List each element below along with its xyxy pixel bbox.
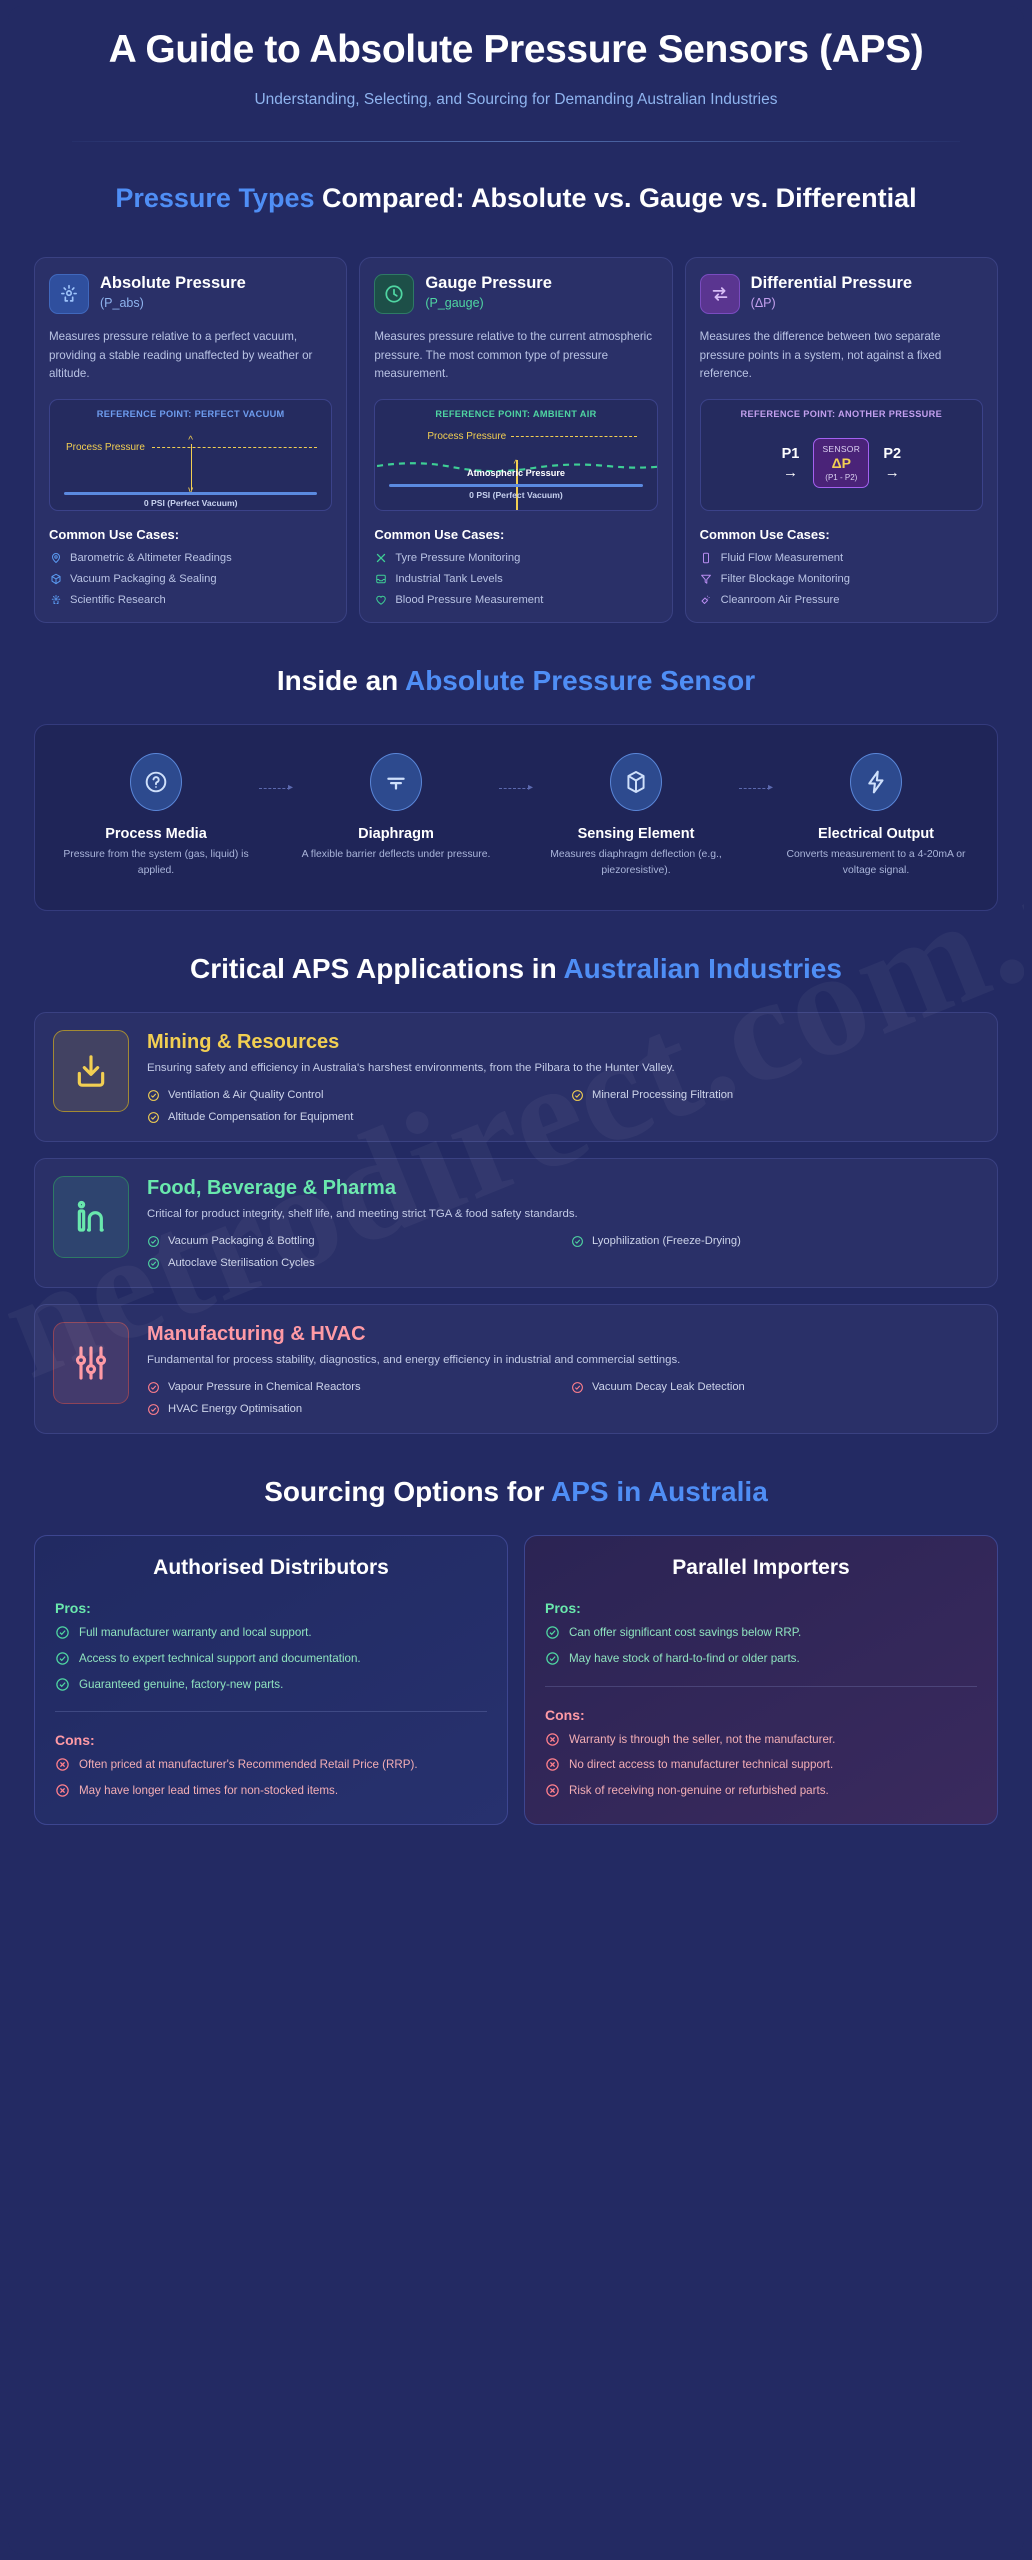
pressure-card-differential: Differential Pressure (ΔP) Measures the …: [685, 257, 998, 623]
list-item-label: May have stock of hard-to-find or older …: [569, 1651, 800, 1668]
sourcing-card-parallel-importers: Parallel Importers Pros: Can offer signi…: [524, 1535, 998, 1825]
list-item: Mineral Processing Filtration: [571, 1089, 979, 1102]
card-header: Absolute Pressure (P_abs): [49, 274, 332, 314]
list-item-label: Vacuum Decay Leak Detection: [592, 1381, 745, 1393]
step-description: Converts measurement to a 4-20mA or volt…: [773, 847, 979, 879]
cons-list: Often priced at manufacturer's Recommend…: [55, 1757, 487, 1800]
list-item: Fluid Flow Measurement: [700, 551, 983, 564]
diagram-baseline-label: 0 PSI (Perfect Vacuum): [50, 498, 331, 508]
chevron-down-icon: v: [188, 486, 193, 496]
list-item: HVAC Energy Optimisation: [147, 1403, 555, 1416]
diagram-sensor-row: P1 → SENSOR ΔP (P1 - P2) P2 →: [701, 438, 982, 488]
step-description: Pressure from the system (gas, liquid) i…: [53, 847, 259, 879]
flow-connector: ▸: [259, 783, 293, 793]
list-item-label: Filter Blockage Monitoring: [721, 573, 850, 585]
card-titles: Gauge Pressure (P_gauge): [425, 274, 552, 309]
arrow-right-icon: →: [782, 465, 800, 480]
diaphragm-equals-icon: [370, 753, 422, 811]
diagram-baseline: [64, 492, 317, 494]
card-titles: Absolute Pressure (P_abs): [100, 274, 246, 309]
list-item: Often priced at manufacturer's Recommend…: [55, 1757, 487, 1774]
sensor-step-sensing-element: Sensing Element Measures diaphragm defle…: [533, 753, 739, 879]
heading-accent: APS in Australia: [551, 1476, 768, 1507]
funnel-icon: [700, 572, 713, 585]
check-circle-icon: [147, 1381, 160, 1394]
absolute-pressure-diagram: REFERENCE POINT: PERFECT VACUUM ^ v Proc…: [49, 399, 332, 511]
list-item-label: Warranty is through the seller, not the …: [569, 1732, 835, 1749]
list-item: Warranty is through the seller, not the …: [545, 1732, 977, 1749]
page-subtitle: Understanding, Selecting, and Sourcing f…: [68, 89, 964, 111]
list-item: Industrial Tank Levels: [374, 572, 657, 585]
list-item: Filter Blockage Monitoring: [700, 572, 983, 585]
use-cases-list: Tyre Pressure Monitoring Industrial Tank…: [374, 551, 657, 606]
infographic-page: netrodirect.com.au A Guide to Absolute P…: [0, 0, 1032, 2560]
diagram-process-dash: [511, 436, 636, 437]
sensor-symbol: ΔP: [817, 455, 865, 471]
connector-line: [739, 788, 770, 789]
connector-line: [499, 788, 530, 789]
tablet-icon: [700, 551, 713, 564]
connector-line: [259, 788, 290, 789]
heading-rest: Sourcing Options for: [264, 1476, 551, 1507]
list-item-label: Scientific Research: [70, 594, 166, 606]
list-item: Barometric & Altimeter Readings: [49, 551, 332, 564]
x-mark-icon: [374, 551, 387, 564]
sourcing-cards: Authorised Distributors Pros: Full manuf…: [8, 1535, 1024, 1825]
inbox-icon: [374, 572, 387, 585]
cube-icon: [610, 753, 662, 811]
question-circle-icon: [130, 753, 182, 811]
card-points: Ventilation & Air Quality Control Minera…: [147, 1089, 979, 1124]
application-card-mining: Mining & Resources Ensuring safety and e…: [34, 1012, 998, 1142]
card-title: Manufacturing & HVAC: [147, 1323, 979, 1345]
diagram-atmospheric-label: Atmospheric Pressure: [375, 468, 656, 478]
use-cases-list: Fluid Flow Measurement Filter Blockage M…: [700, 551, 983, 606]
list-item-label: Barometric & Altimeter Readings: [70, 552, 232, 564]
diagram-p2: P2 →: [883, 446, 901, 480]
list-item-label: Mineral Processing Filtration: [592, 1089, 733, 1101]
list-item-label: Autoclave Sterilisation Cycles: [168, 1257, 315, 1269]
check-circle-icon: [545, 1651, 560, 1666]
application-card-food: Food, Beverage & Pharma Critical for pro…: [34, 1158, 998, 1288]
list-item: Risk of receiving non-genuine or refurbi…: [545, 1783, 977, 1800]
sensor-step-process-media: Process Media Pressure from the system (…: [53, 753, 259, 879]
x-circle-icon: [55, 1757, 70, 1772]
list-item: May have longer lead times for non-stock…: [55, 1783, 487, 1800]
list-item: Guaranteed genuine, factory-new parts.: [55, 1677, 487, 1694]
pressure-type-cards: Absolute Pressure (P_abs) Measures press…: [8, 257, 1024, 623]
p1-label: P1: [782, 446, 800, 462]
pressure-types-heading: Pressure Types Compared: Absolute vs. Ga…: [8, 182, 1024, 216]
list-item-label: Industrial Tank Levels: [395, 573, 502, 585]
flow-connector: ▸: [739, 783, 773, 793]
list-item: Lyophilization (Freeze-Drying): [571, 1235, 979, 1248]
card-points: Vacuum Packaging & Bottling Lyophilizati…: [147, 1235, 979, 1270]
step-name: Electrical Output: [773, 826, 979, 842]
cons-label: Cons:: [545, 1707, 977, 1723]
linkedin-in-icon: [53, 1176, 129, 1258]
diagram-reference-label: REFERENCE POINT: PERFECT VACUUM: [50, 409, 331, 419]
pros-label: Pros:: [55, 1600, 487, 1616]
applications-heading: Critical APS Applications in Australian …: [8, 951, 1024, 986]
infographic-canvas: netrodirect.com.au A Guide to Absolute P…: [8, 6, 1024, 2554]
cons-label: Cons:: [55, 1732, 487, 1748]
application-card-manufacturing: Manufacturing & HVAC Fundamental for pro…: [34, 1304, 998, 1434]
map-pin-icon: [49, 551, 62, 564]
sensor-step-diaphragm: Diaphragm A flexible barrier deflects un…: [293, 753, 499, 863]
diagram-process-dash: [152, 447, 317, 448]
sliders-icon: [53, 1322, 129, 1404]
vacuum-burst-icon: [49, 274, 89, 314]
list-item-label: Often priced at manufacturer's Recommend…: [79, 1757, 418, 1774]
pressure-card-gauge: Gauge Pressure (P_gauge) Measures pressu…: [359, 257, 672, 623]
sensor-step-electrical-output: Electrical Output Converts measurement t…: [773, 753, 979, 879]
card-body: Mining & Resources Ensuring safety and e…: [147, 1030, 979, 1124]
diagram-sensor-box: SENSOR ΔP (P1 - P2): [813, 438, 869, 488]
flow-connector: ▸: [499, 783, 533, 793]
sourcing-heading: Sourcing Options for APS in Australia: [8, 1474, 1024, 1509]
exchange-arrows-icon: [700, 274, 740, 314]
arrow-right-icon: →: [883, 465, 901, 480]
step-description: Measures diaphragm deflection (e.g., pie…: [533, 847, 739, 879]
list-item-label: Guaranteed genuine, factory-new parts.: [79, 1677, 283, 1694]
heading-rest: Inside an: [277, 665, 405, 696]
card-description: Measures pressure relative to the curren…: [374, 328, 657, 383]
pros-label: Pros:: [545, 1600, 977, 1616]
use-cases-list: Barometric & Altimeter Readings Vacuum P…: [49, 551, 332, 606]
list-item-label: Fluid Flow Measurement: [721, 552, 843, 564]
card-title: Absolute Pressure: [100, 274, 246, 293]
card-title: Authorised Distributors: [55, 1556, 487, 1580]
list-item-label: No direct access to manufacturer technic…: [569, 1757, 833, 1774]
list-item-label: Vacuum Packaging & Sealing: [70, 573, 217, 585]
card-description: Measures the difference between two sepa…: [700, 328, 983, 383]
check-circle-icon: [147, 1235, 160, 1248]
check-circle-icon: [147, 1111, 160, 1124]
heading-rest: Compared: Absolute vs. Gauge vs. Differe…: [314, 183, 916, 213]
list-item: Vacuum Decay Leak Detection: [571, 1381, 979, 1394]
package-icon: [49, 572, 62, 585]
card-divider: [545, 1686, 977, 1687]
list-item-label: Access to expert technical support and d…: [79, 1651, 361, 1668]
page-title: A Guide to Absolute Pressure Sensors (AP…: [68, 28, 964, 72]
card-header: Gauge Pressure (P_gauge): [374, 274, 657, 314]
heading-rest: Critical APS Applications in: [190, 953, 563, 984]
card-symbol: (P_abs): [100, 296, 246, 310]
card-description: Ensuring safety and efficiency in Austra…: [147, 1060, 979, 1077]
list-item: Can offer significant cost savings below…: [545, 1625, 977, 1642]
check-circle-icon: [147, 1403, 160, 1416]
pressure-card-absolute: Absolute Pressure (P_abs) Measures press…: [34, 257, 347, 623]
check-circle-icon: [571, 1235, 584, 1248]
gauge-pressure-diagram: REFERENCE POINT: AMBIENT AIR Process Pre…: [374, 399, 657, 511]
clock-icon: [374, 274, 414, 314]
list-item-label: HVAC Energy Optimisation: [168, 1403, 302, 1415]
card-body: Food, Beverage & Pharma Critical for pro…: [147, 1176, 979, 1270]
card-description: Measures pressure relative to a perfect …: [49, 328, 332, 383]
heading-accent: Pressure Types: [115, 183, 314, 213]
x-circle-icon: [545, 1732, 560, 1747]
card-description: Critical for product integrity, shelf li…: [147, 1206, 979, 1223]
list-item-label: Full manufacturer warranty and local sup…: [79, 1625, 312, 1642]
list-item-label: Ventilation & Air Quality Control: [168, 1089, 323, 1101]
heading-accent: Australian Industries: [563, 953, 842, 984]
heart-icon: [374, 593, 387, 606]
diagram-process-label: Process Pressure: [66, 442, 145, 453]
check-circle-icon: [571, 1381, 584, 1394]
step-name: Diaphragm: [293, 826, 499, 842]
card-title: Gauge Pressure: [425, 274, 552, 293]
check-circle-icon: [55, 1651, 70, 1666]
list-item: Cleanroom Air Pressure: [700, 593, 983, 606]
check-circle-icon: [55, 1677, 70, 1692]
diagram-process-label: Process Pressure: [427, 431, 506, 442]
list-item-label: Altitude Compensation for Equipment: [168, 1111, 353, 1123]
list-item: Vacuum Packaging & Sealing: [49, 572, 332, 585]
card-title: Food, Beverage & Pharma: [147, 1177, 979, 1199]
step-name: Process Media: [53, 826, 259, 842]
list-item: Vapour Pressure in Chemical Reactors: [147, 1381, 555, 1394]
sensor-label: SENSOR: [817, 444, 865, 454]
card-title: Differential Pressure: [751, 274, 912, 293]
list-item-label: Vacuum Packaging & Bottling: [168, 1235, 315, 1247]
pros-list: Full manufacturer warranty and local sup…: [55, 1625, 487, 1693]
card-title: Mining & Resources: [147, 1031, 979, 1053]
card-points: Vapour Pressure in Chemical Reactors Vac…: [147, 1381, 979, 1416]
check-circle-icon: [55, 1625, 70, 1640]
card-divider: [55, 1711, 487, 1712]
list-item: May have stock of hard-to-find or older …: [545, 1651, 977, 1668]
list-item: Tyre Pressure Monitoring: [374, 551, 657, 564]
use-cases-title: Common Use Cases:: [700, 527, 983, 542]
diagram-arrow-line: [191, 444, 193, 490]
check-circle-icon: [571, 1089, 584, 1102]
check-circle-icon: [147, 1089, 160, 1102]
list-item: Altitude Compensation for Equipment: [147, 1111, 555, 1124]
spray-icon: [700, 593, 713, 606]
sensor-formula: (P1 - P2): [817, 473, 865, 482]
atom-icon: [49, 593, 62, 606]
list-item-label: May have longer lead times for non-stock…: [79, 1783, 338, 1800]
list-item-label: Lyophilization (Freeze-Drying): [592, 1235, 741, 1247]
download-tray-icon: [53, 1030, 129, 1112]
card-titles: Differential Pressure (ΔP): [751, 274, 912, 309]
x-circle-icon: [545, 1783, 560, 1798]
sourcing-card-authorised-distributors: Authorised Distributors Pros: Full manuf…: [34, 1535, 508, 1825]
differential-pressure-diagram: REFERENCE POINT: ANOTHER PRESSURE P1 → S…: [700, 399, 983, 511]
cons-list: Warranty is through the seller, not the …: [545, 1732, 977, 1800]
pros-list: Can offer significant cost savings below…: [545, 1625, 977, 1668]
card-body: Manufacturing & HVAC Fundamental for pro…: [147, 1322, 979, 1416]
card-header: Differential Pressure (ΔP): [700, 274, 983, 314]
card-symbol: (ΔP): [751, 296, 912, 310]
list-item: Scientific Research: [49, 593, 332, 606]
use-cases-title: Common Use Cases:: [374, 527, 657, 542]
list-item-label: Can offer significant cost savings below…: [569, 1625, 801, 1642]
diagram-reference-label: REFERENCE POINT: ANOTHER PRESSURE: [701, 409, 982, 419]
list-item: Vacuum Packaging & Bottling: [147, 1235, 555, 1248]
list-item: Autoclave Sterilisation Cycles: [147, 1257, 555, 1270]
check-circle-icon: [545, 1625, 560, 1640]
p2-label: P2: [883, 446, 901, 462]
list-item: Access to expert technical support and d…: [55, 1651, 487, 1668]
diagram-baseline-label: 0 PSI (Perfect Vacuum): [375, 490, 656, 500]
inside-sensor-section: Process Media Pressure from the system (…: [8, 724, 1024, 910]
card-description: Fundamental for process stability, diagn…: [147, 1352, 979, 1369]
list-item-label: Tyre Pressure Monitoring: [395, 552, 520, 564]
list-item: Ventilation & Air Quality Control: [147, 1089, 555, 1102]
step-description: A flexible barrier deflects under pressu…: [293, 847, 499, 863]
list-item-label: Blood Pressure Measurement: [395, 594, 543, 606]
list-item: Full manufacturer warranty and local sup…: [55, 1625, 487, 1642]
x-circle-icon: [55, 1783, 70, 1798]
use-cases-title: Common Use Cases:: [49, 527, 332, 542]
application-cards: Mining & Resources Ensuring safety and e…: [8, 1012, 1024, 1434]
step-name: Sensing Element: [533, 826, 739, 842]
list-item: Blood Pressure Measurement: [374, 593, 657, 606]
diagram-p1: P1 →: [782, 446, 800, 480]
inside-sensor-heading: Inside an Absolute Pressure Sensor: [8, 663, 1024, 698]
card-symbol: (P_gauge): [425, 296, 552, 310]
card-title: Parallel Importers: [545, 1556, 977, 1580]
x-circle-icon: [545, 1757, 560, 1772]
diagram-baseline: [389, 484, 642, 486]
list-item-label: Risk of receiving non-genuine or refurbi…: [569, 1783, 829, 1800]
lightning-bolt-icon: [850, 753, 902, 811]
hero-section: A Guide to Absolute Pressure Sensors (AP…: [8, 6, 1024, 142]
heading-accent: Absolute Pressure Sensor: [405, 665, 755, 696]
list-item-label: Cleanroom Air Pressure: [721, 594, 840, 606]
list-item: No direct access to manufacturer technic…: [545, 1757, 977, 1774]
sensor-flow-diagram: Process Media Pressure from the system (…: [34, 724, 998, 910]
diagram-reference-label: REFERENCE POINT: AMBIENT AIR: [375, 409, 656, 419]
list-item-label: Vapour Pressure in Chemical Reactors: [168, 1381, 361, 1393]
check-circle-icon: [147, 1257, 160, 1270]
